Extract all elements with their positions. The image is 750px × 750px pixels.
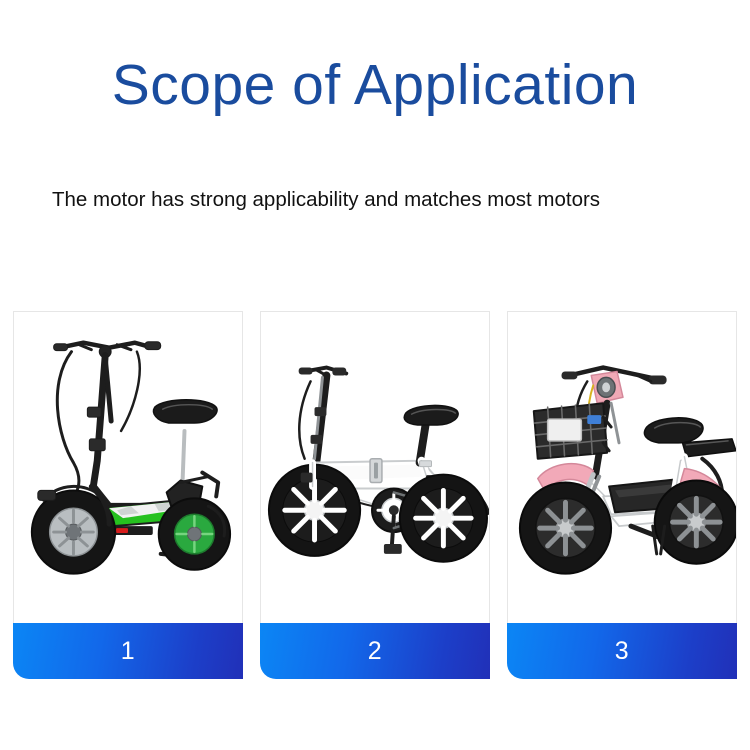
card-number-badge-3: 3: [507, 623, 737, 679]
card-image-frame-1: [13, 311, 243, 623]
pink-white-electric-moped-photo: [508, 312, 736, 621]
white-folding-electric-bike-photo: [261, 312, 489, 621]
application-card-3[interactable]: 3: [507, 311, 737, 679]
application-card-row: 1: [13, 311, 737, 679]
card-number-badge-2: 2: [260, 623, 490, 679]
page-title: Scope of Application: [0, 50, 750, 120]
black-green-electric-scooter-photo: [14, 312, 242, 621]
page-subtitle: The motor has strong applicability and m…: [52, 175, 702, 225]
application-card-2[interactable]: 2: [260, 311, 490, 679]
card-image-frame-2: [260, 311, 490, 623]
application-card-1[interactable]: 1: [13, 311, 243, 679]
scope-of-application-page: Scope of Application The motor has stron…: [0, 0, 750, 750]
card-number-badge-1: 1: [13, 623, 243, 679]
card-image-frame-3: [507, 311, 737, 623]
